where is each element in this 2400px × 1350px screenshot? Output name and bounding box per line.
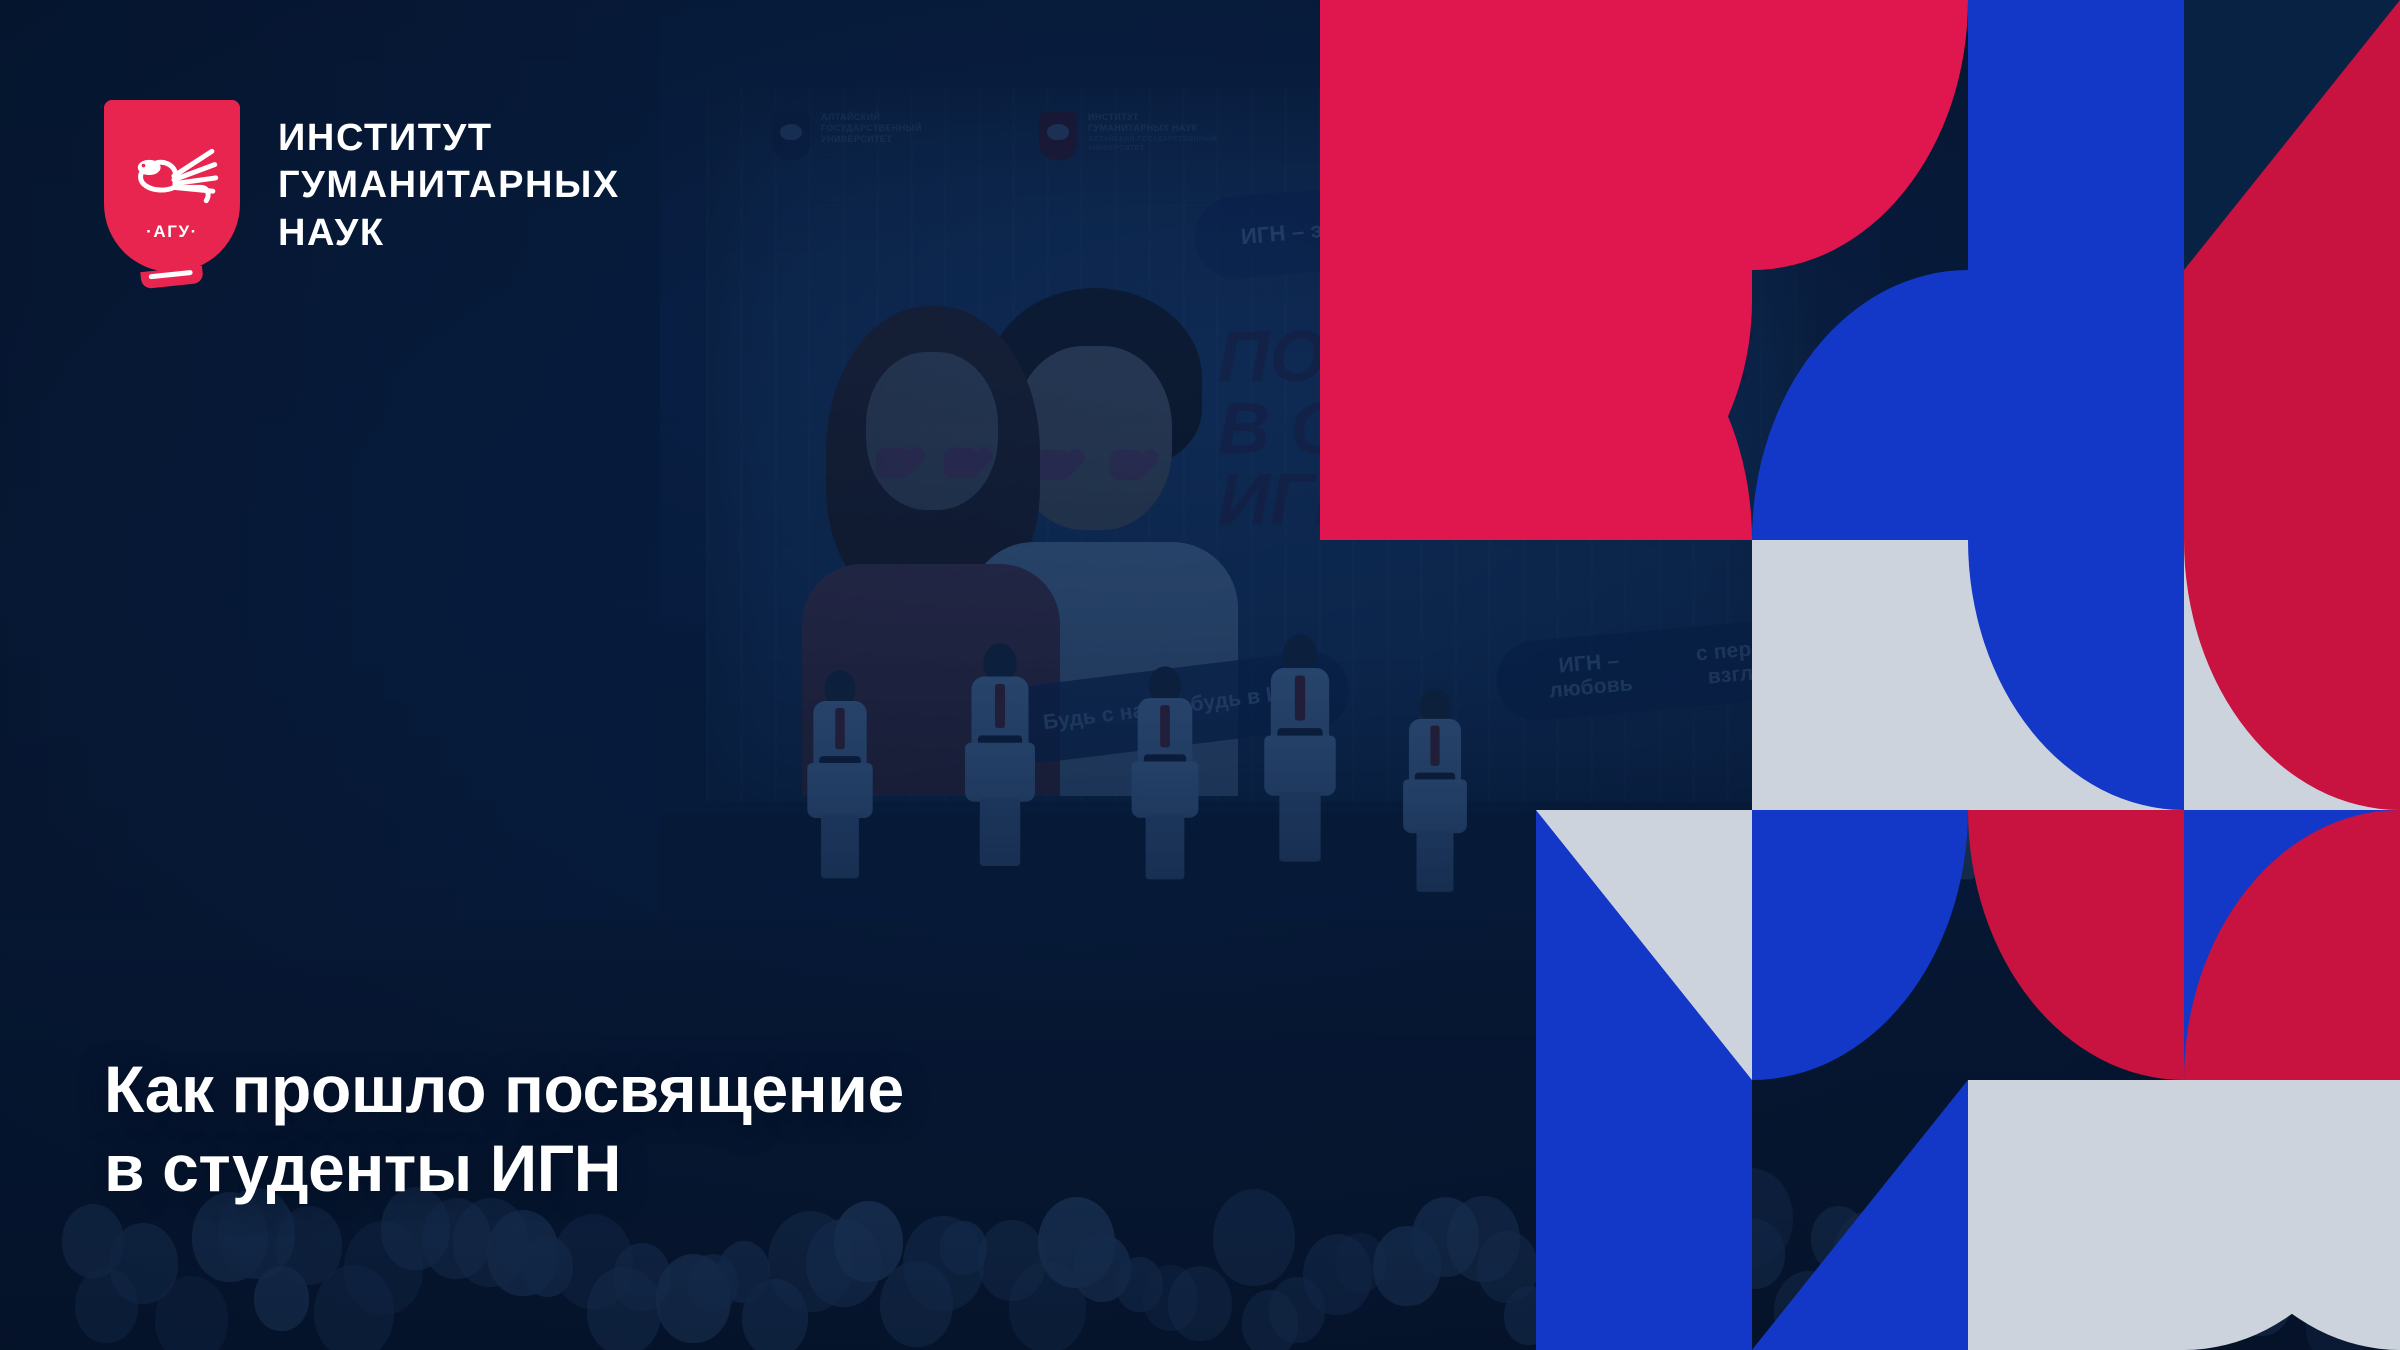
bird-icon <box>124 138 220 214</box>
institute-name-line-3: НАУК <box>278 210 620 257</box>
decor-quarter-circle <box>1752 810 1968 1080</box>
institute-logo-lockup: ·АГУ· ИНСТИТУТ ГУМАНИТАРНЫХ НАУК <box>104 100 620 272</box>
decor-grey-wedge <box>1536 810 1752 1080</box>
decor-tile <box>1752 810 1968 1080</box>
institute-name-line-1: ИНСТИТУТ <box>278 115 620 162</box>
decor-grey-bottom <box>1968 1080 2184 1350</box>
decor-tile <box>1536 540 1752 810</box>
decor-blue-triangle <box>1752 1080 1968 1350</box>
institute-name: ИНСТИТУТ ГУМАНИТАРНЫХ НАУК <box>278 115 620 256</box>
decor-navy-triangle <box>2184 0 2400 270</box>
decor-tile <box>1752 270 1968 540</box>
decor-grey-col <box>1752 540 1968 810</box>
geometric-decoration <box>1536 0 2400 1350</box>
institute-name-line-2: ГУМАНИТАРНЫХ <box>278 162 620 209</box>
page-title: Как прошло посвящение в студенты ИГН <box>104 1050 904 1208</box>
page-title-line-2: в студенты ИГН <box>104 1129 904 1208</box>
page-title-line-1: Как прошло посвящение <box>104 1050 904 1129</box>
decor-clear <box>1752 0 1968 270</box>
agu-abbr-label: ·АГУ· <box>104 222 240 242</box>
poster-canvas: Алтайский государственный университет Ин… <box>0 0 2400 1350</box>
decor-tile <box>1968 810 2184 1080</box>
agu-shield-bird-logo: ·АГУ· <box>104 100 240 272</box>
decor-pink-disc-3 <box>1320 0 1536 540</box>
decor-quarter-circle <box>1752 270 1968 540</box>
